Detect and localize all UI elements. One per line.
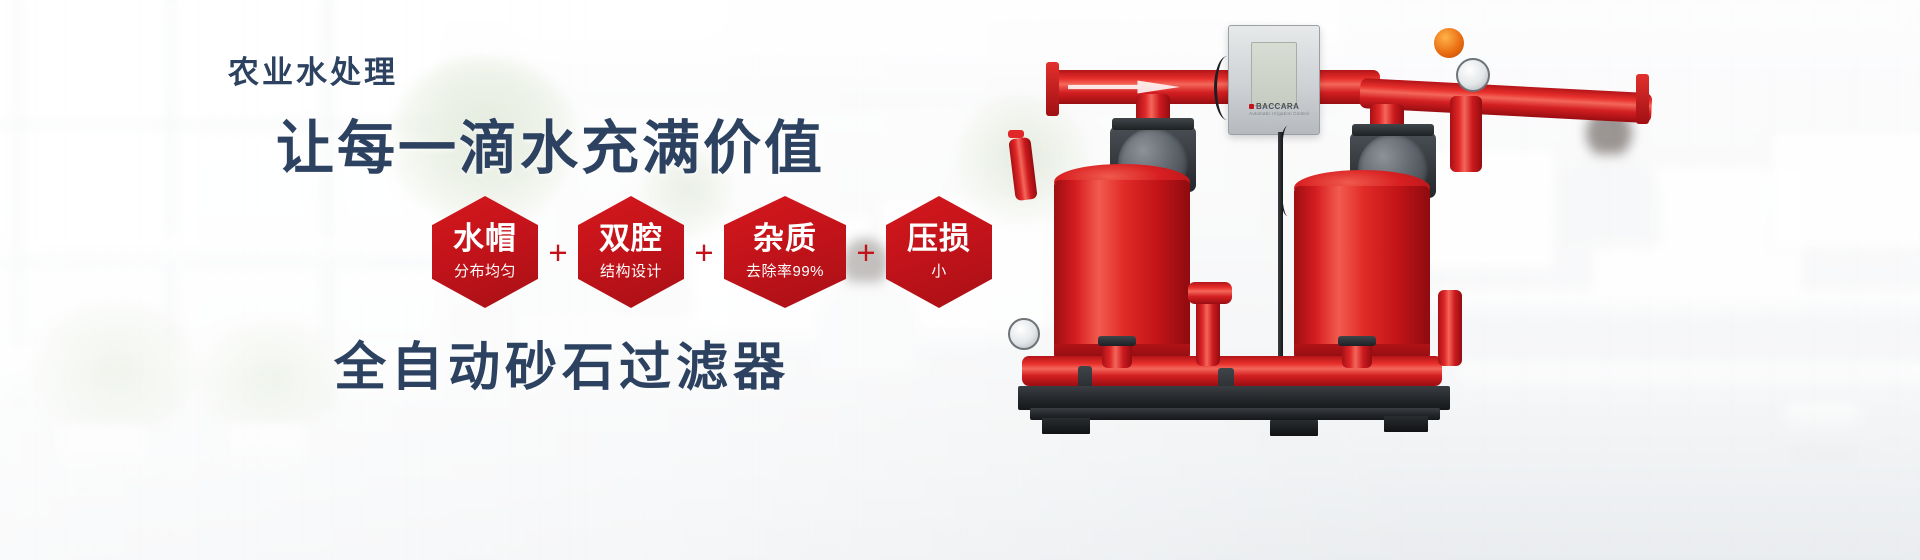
controller-box: BACCARA Automatic Irrigation Control xyxy=(1228,25,1320,135)
pipe-clamp xyxy=(1098,336,1136,346)
product-name-text: 全自动砂石过滤器 xyxy=(334,325,790,400)
pipe-clamp xyxy=(1338,336,1376,346)
side-feed-pipe xyxy=(1188,282,1232,304)
feature-subtitle: 小 xyxy=(931,260,947,281)
eyebrow-text: 农业水处理 xyxy=(228,47,398,92)
feature-title: 双腔 xyxy=(599,223,663,256)
controller-faceplate xyxy=(1251,42,1297,106)
controller-mast xyxy=(1278,132,1283,382)
controller-cable xyxy=(1214,56,1241,120)
controller-brand-label: BACCARA Automatic Irrigation Control xyxy=(1249,102,1309,116)
feature-badge-1: 水帽 分布均匀 xyxy=(432,196,538,308)
banner-copy: 农业水处理 让每一滴水充满价值 水帽 分布均匀 + 双腔 结构设计 + 杂质 去… xyxy=(0,0,1100,560)
promo-banner: BACCARA Automatic Irrigation Control xyxy=(0,0,1920,560)
valve-clamp xyxy=(1112,118,1194,130)
headline-text: 让每一滴水充满价值 xyxy=(276,101,825,185)
plus-separator-icon: + xyxy=(684,236,724,269)
plus-separator-icon: + xyxy=(538,236,578,269)
feature-badge-3: 杂质 去除率99% xyxy=(724,196,846,308)
baccara-logo-icon xyxy=(1249,104,1254,109)
feature-subtitle: 分布均匀 xyxy=(454,260,516,281)
pressure-gauge xyxy=(1456,58,1490,92)
feature-badge-row: 水帽 分布均匀 + 双腔 结构设计 + 杂质 去除率99% + 压损 小 xyxy=(432,196,992,308)
feature-subtitle: 结构设计 xyxy=(600,260,662,281)
outlet-elbow-pipe xyxy=(1450,96,1482,172)
valve-clamp xyxy=(1352,124,1434,136)
base-foot xyxy=(1384,416,1428,432)
filter-tank-right xyxy=(1294,186,1430,352)
base-foot xyxy=(1270,420,1318,436)
pipe-flange xyxy=(1636,74,1649,124)
plus-separator-icon: + xyxy=(846,236,886,269)
air-release-valve xyxy=(1434,28,1464,58)
feature-title: 压损 xyxy=(907,223,971,256)
side-feed-pipe xyxy=(1438,290,1462,366)
feature-subtitle: 去除率99% xyxy=(746,260,824,281)
feature-badge-2: 双腔 结构设计 xyxy=(578,196,684,308)
feature-title: 水帽 xyxy=(453,223,517,256)
feature-badge-4: 压损 小 xyxy=(886,196,992,308)
feature-title: 杂质 xyxy=(753,223,817,256)
